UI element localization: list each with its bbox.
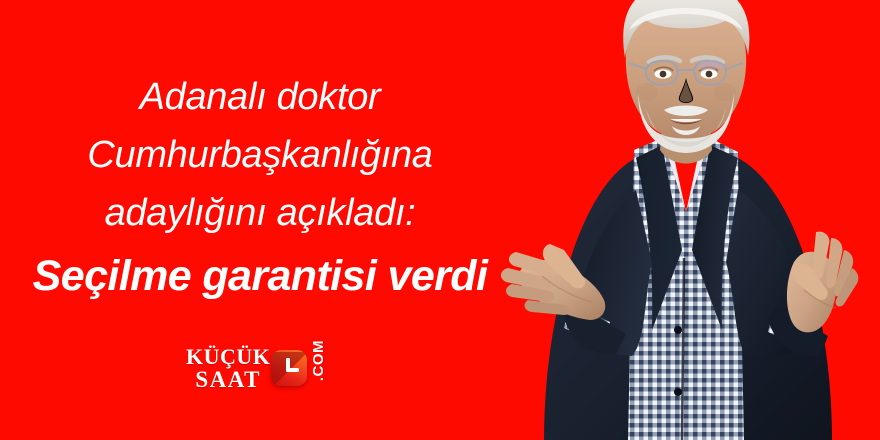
news-card: Adanalı doktor Cumhurbaşkanlığına adaylı… — [0, 0, 880, 440]
kicker-line-1: Adanalı doktor — [0, 68, 520, 126]
logo-tld-com: .COM — [310, 340, 327, 381]
site-logo[interactable]: KÜÇÜK SAAT .COM — [186, 341, 346, 395]
logo-word-saat: SAAT — [195, 368, 261, 392]
clock-hand-minute — [286, 368, 299, 372]
logo-wordmark: KÜÇÜK SAAT — [186, 345, 272, 392]
subject-photo — [486, 0, 880, 440]
main-headline: Seçilme garantisi verdi — [0, 248, 520, 304]
headline-block: Adanalı doktor Cumhurbaşkanlığına adaylı… — [0, 68, 520, 304]
clock-icon — [271, 350, 307, 386]
kicker-line-3: adaylığını açıkladı: — [0, 184, 520, 242]
logo-word-kucuk: KÜÇÜK — [186, 345, 270, 368]
kicker-line-2: Cumhurbaşkanlığına — [0, 126, 520, 184]
